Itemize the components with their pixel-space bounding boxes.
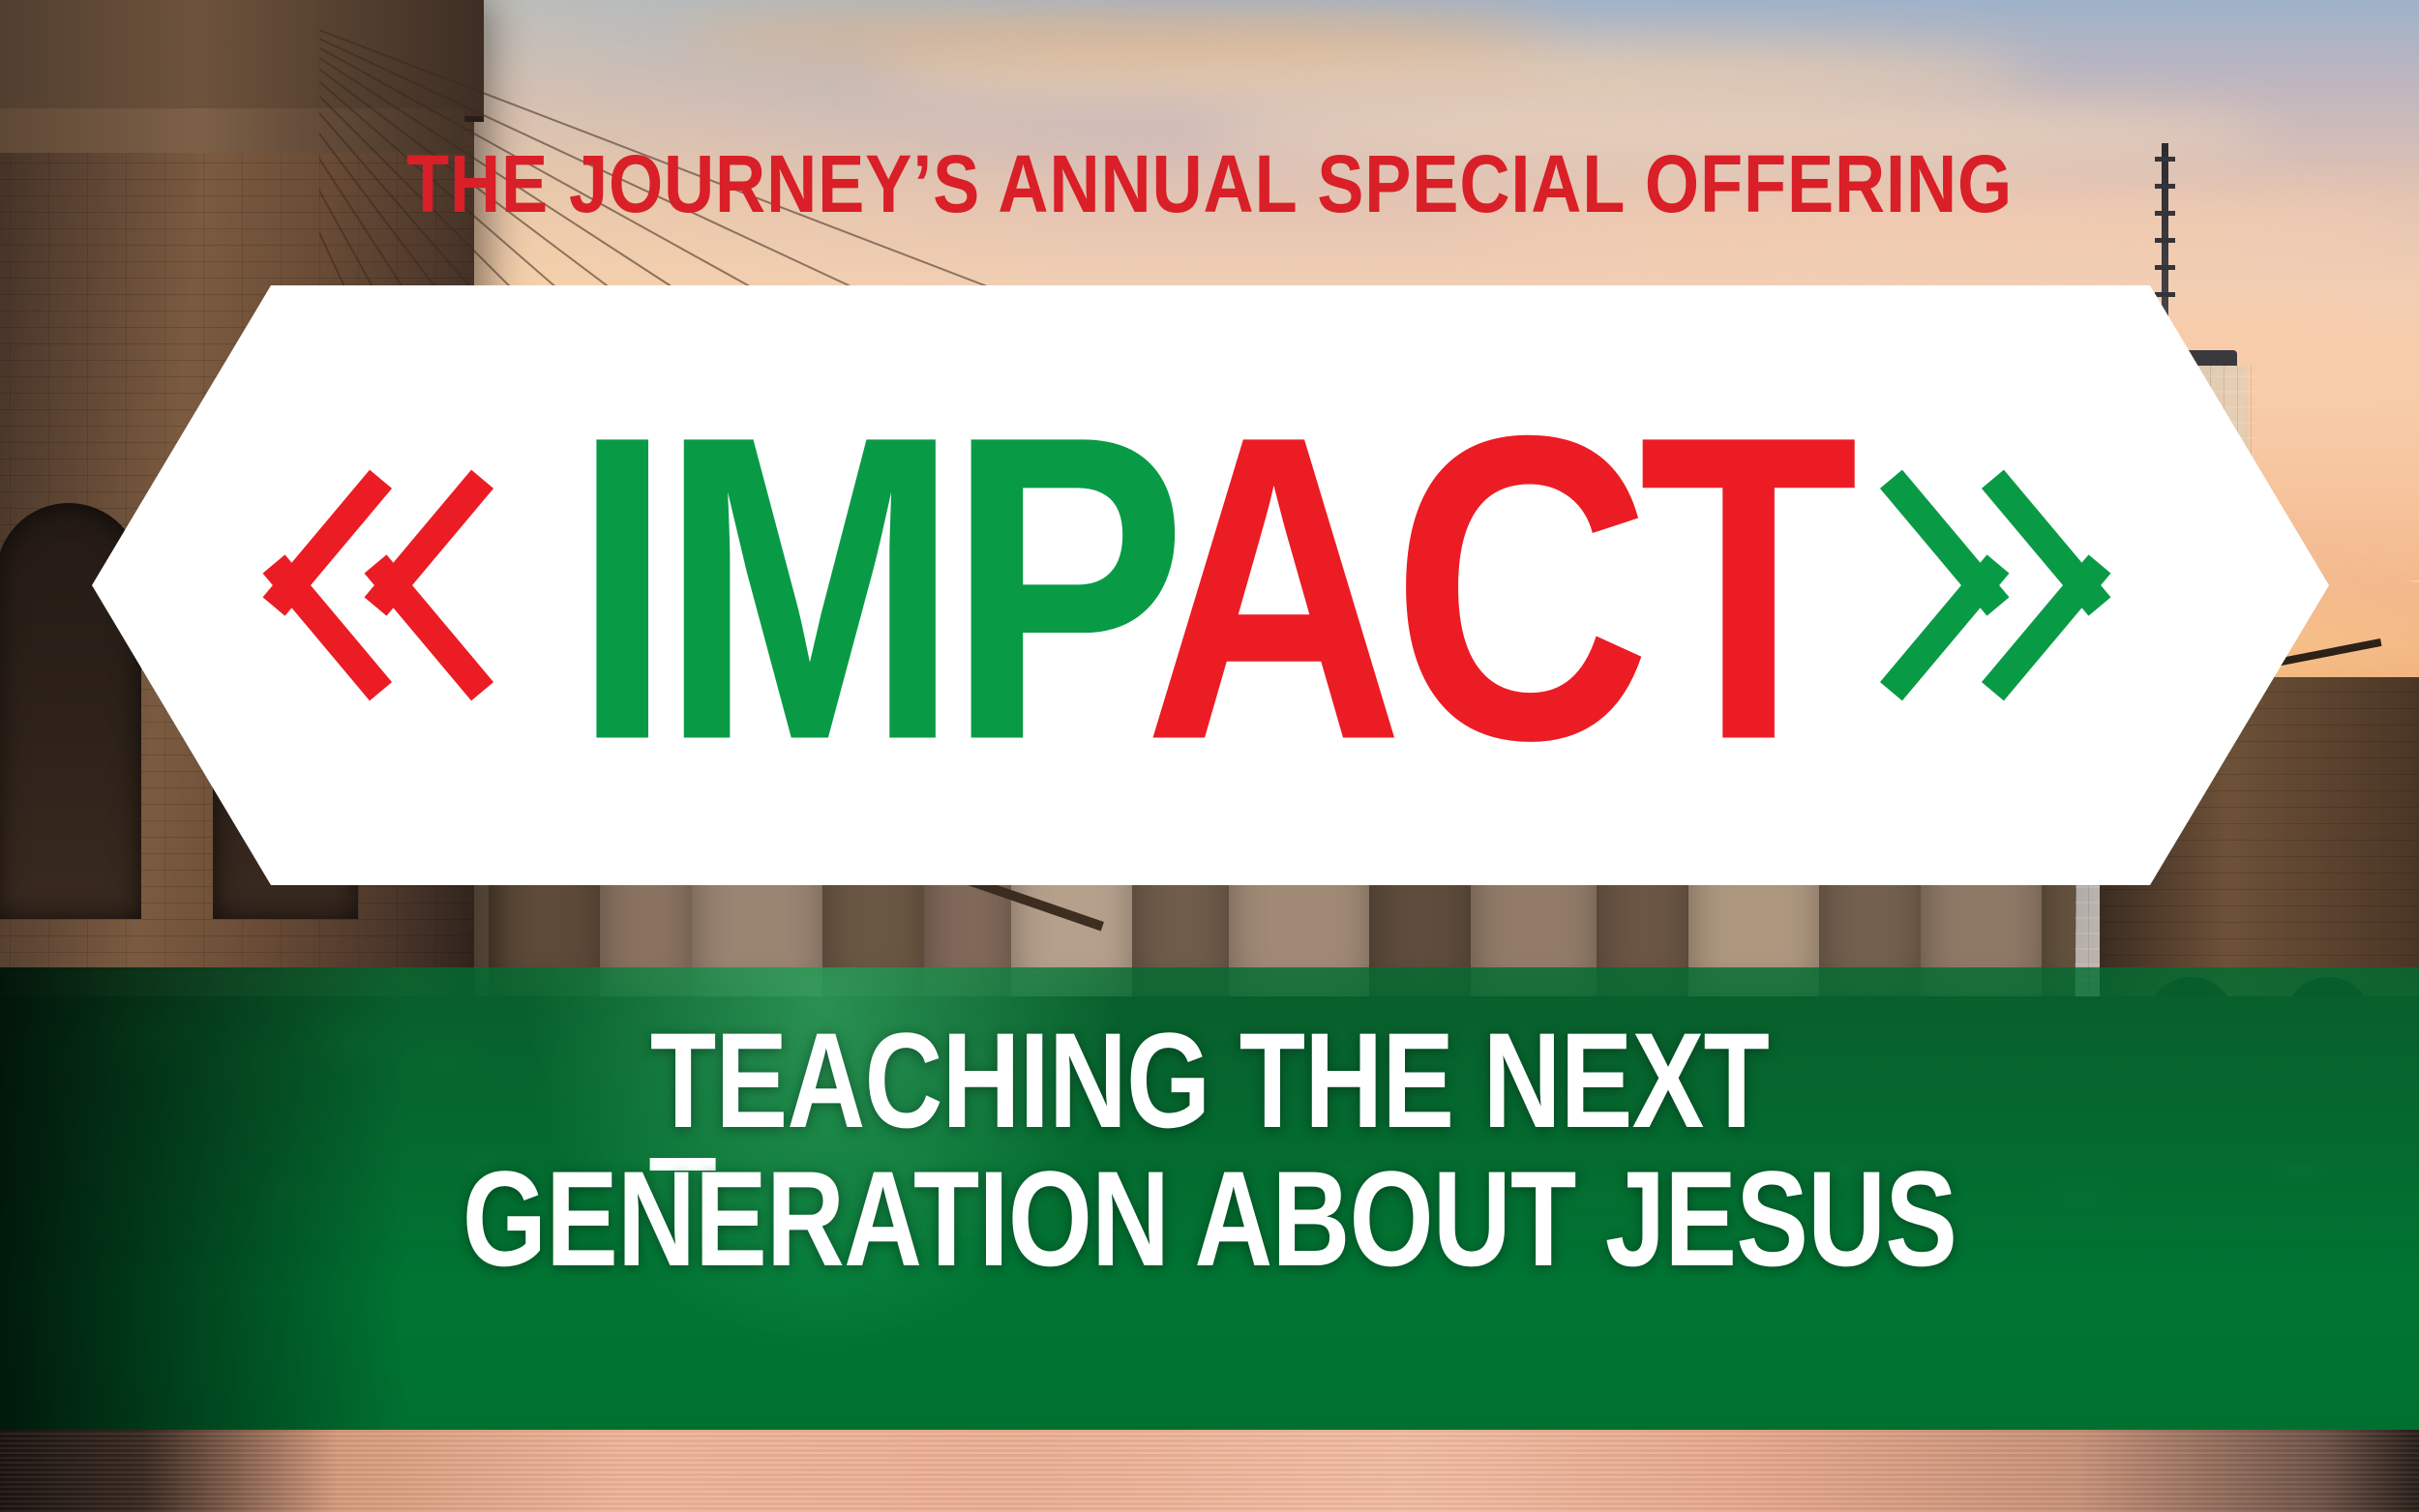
river-water-strip bbox=[0, 1430, 2419, 1512]
double-chevron-right-icon bbox=[2085, 440, 2114, 730]
tagline: TEACHING THE NEXT GENERATION ABOUT JESUS bbox=[242, 1012, 2177, 1289]
double-chevron-left-icon bbox=[259, 440, 288, 730]
tagline-line-2: GENERATION ABOUT JESUS bbox=[242, 1150, 2177, 1289]
poster-canvas: THE JOURNEY’S ANNUAL SPECIAL OFFERING IM… bbox=[0, 0, 2419, 1512]
page-title: THE JOURNEY’S ANNUAL SPECIAL OFFERING bbox=[169, 143, 2250, 224]
tagline-line-1-rest: EACHING THE NEXT bbox=[716, 1004, 1770, 1156]
double-chevron-left-icon bbox=[361, 440, 390, 730]
tagline-line-1: TEACHING THE NEXT bbox=[242, 1012, 2177, 1150]
